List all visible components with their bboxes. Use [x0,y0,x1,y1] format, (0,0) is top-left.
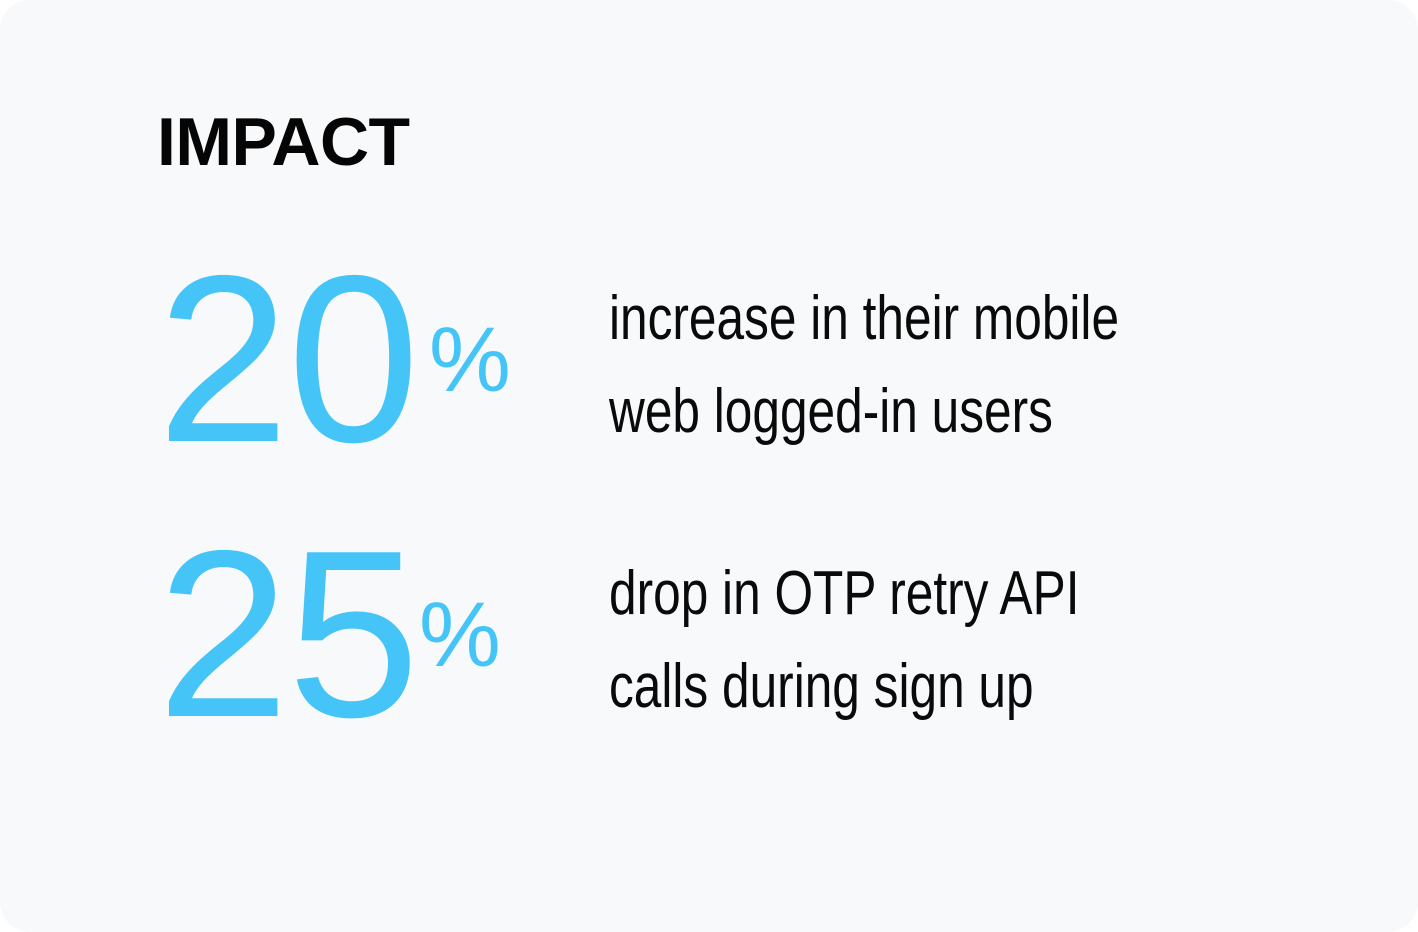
stat-description: drop in OTP retry API calls during sign … [609,547,1207,733]
stat-description-line: drop in OTP retry API [609,547,1207,640]
stat-figure: 25 % [157,540,609,740]
stat-value: 20 [157,265,418,455]
stat-description-line: web logged-in users [609,365,1207,458]
stat-row: 20 % increase in their mobile web logged… [157,265,1357,465]
stat-unit: % [429,265,511,455]
stat-value: 25 [157,540,418,730]
stat-figure: 20 % [157,265,609,465]
page-title: IMPACT [157,108,410,176]
stat-description-line: calls during sign up [609,640,1207,733]
stat-description-line: increase in their mobile [609,272,1207,365]
impact-card: IMPACT 20 % increase in their mobile web… [0,0,1418,932]
stat-description: increase in their mobile web logged-in u… [609,272,1207,458]
stat-unit: % [419,540,501,730]
stat-row: 25 % drop in OTP retry API calls during … [157,540,1357,740]
